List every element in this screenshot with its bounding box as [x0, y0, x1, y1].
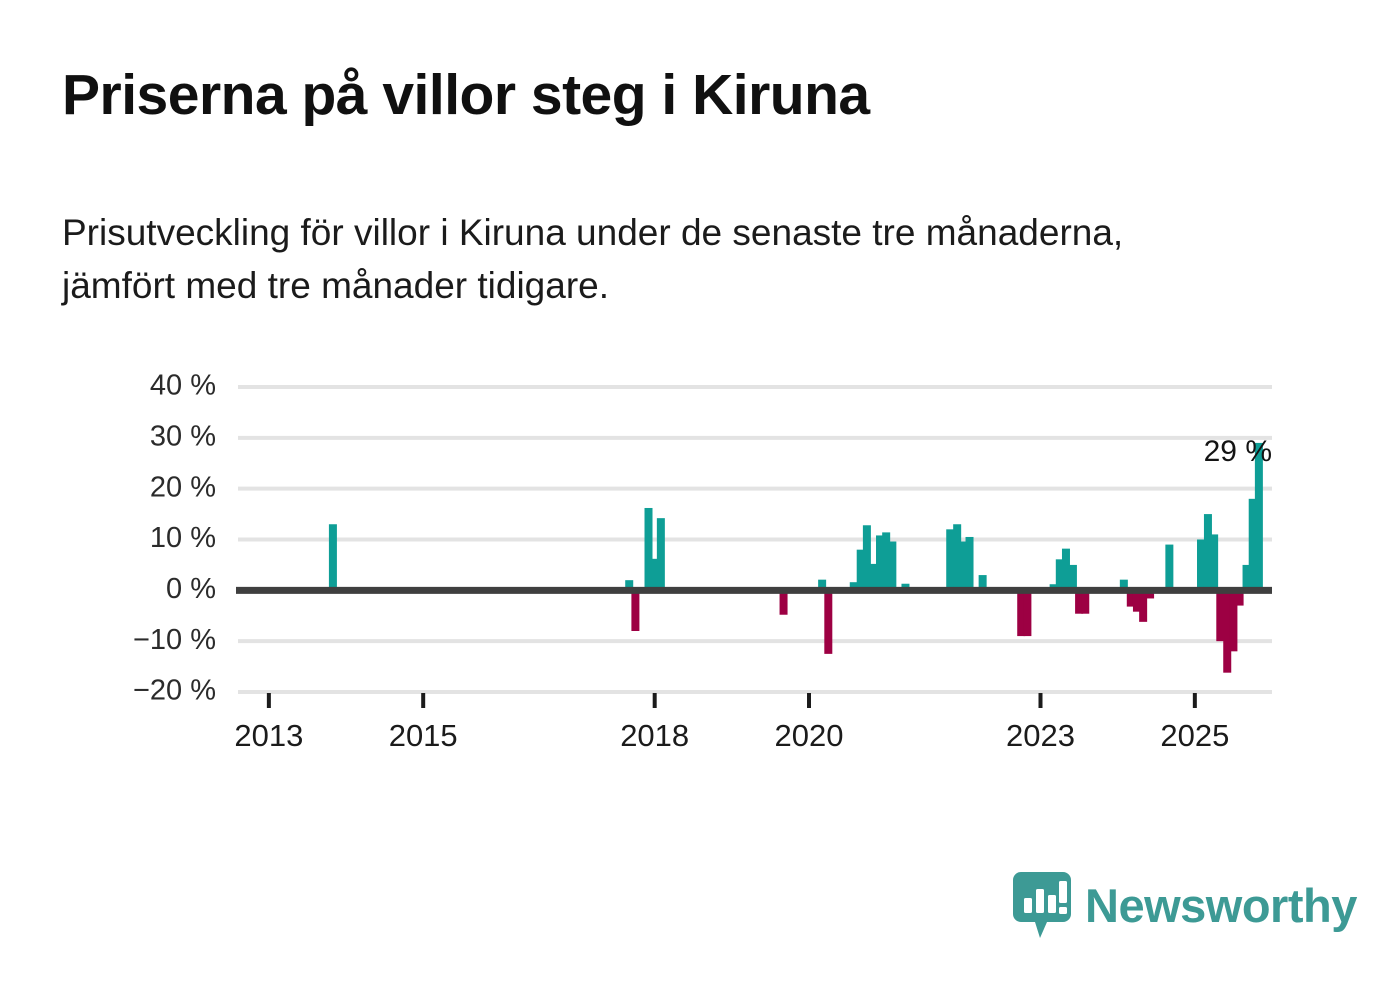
bars-group [329, 443, 1263, 673]
x-axis-ticks: 201320152018202020232025 [234, 693, 1229, 753]
chart-page: Priserna på villor steg i Kiruna Prisutv… [0, 0, 1382, 999]
page-subtitle: Prisutveckling för villor i Kiruna under… [62, 206, 1242, 312]
chart-bar [1133, 590, 1141, 611]
chart-bar [1146, 590, 1154, 598]
y-axis-ticks: 40 %30 %20 %10 %0 %−10 %−20 % [133, 370, 216, 707]
y-axis-label: 30 % [150, 420, 216, 452]
chart-bar [1165, 545, 1173, 591]
chart-bar [1139, 590, 1147, 622]
x-axis-label: 2018 [620, 718, 689, 753]
y-axis-label: 40 % [150, 370, 216, 402]
y-axis-label: 0 % [166, 573, 216, 605]
chart-bar [818, 580, 826, 591]
chart-bar [901, 584, 909, 591]
chart-bar [1223, 590, 1231, 672]
chart-bar [651, 559, 659, 591]
y-axis-label: −20 % [133, 675, 216, 707]
chart-bar [631, 590, 639, 631]
bar-chart-speech-bubble-icon [1013, 872, 1071, 938]
y-axis-label: −10 % [133, 624, 216, 656]
chart-bar [1050, 584, 1058, 590]
y-axis-label: 10 % [150, 522, 216, 554]
newsworthy-logo: Newsworthy [1013, 872, 1357, 938]
chart-bar [1069, 565, 1077, 590]
chart-bar [657, 518, 665, 590]
newsworthy-wordmark: Newsworthy [1085, 882, 1357, 929]
x-axis-label: 2020 [775, 718, 844, 753]
chart-bar [1255, 443, 1263, 590]
chart-annotations: 29 % [1204, 435, 1272, 468]
chart-bar [1120, 580, 1128, 591]
chart-bar [876, 535, 884, 590]
x-axis-label: 2015 [389, 718, 458, 753]
x-axis-label: 2023 [1006, 718, 1075, 753]
chart-bar [882, 532, 890, 590]
x-axis-label: 2025 [1160, 718, 1229, 753]
chart-bar [1204, 514, 1212, 590]
chart-bar [953, 524, 961, 590]
chart-bar [857, 550, 865, 591]
chart-bar [1017, 590, 1025, 636]
chart-bar [863, 525, 871, 590]
chart-bar [329, 524, 337, 590]
chart-bar [1023, 590, 1031, 636]
x-axis-label: 2013 [234, 718, 303, 753]
chart-bar [1236, 590, 1244, 605]
chart-bar [1081, 590, 1089, 613]
page-title: Priserna på villor steg i Kiruna [62, 62, 1322, 128]
chart-bar [1229, 590, 1237, 651]
chart-svg: 40 %30 %20 %10 %0 %−10 %−20 % 2013201520… [0, 0, 1382, 999]
chart-bar [780, 590, 788, 614]
chart-bar [1249, 499, 1257, 590]
chart-bar [1210, 534, 1218, 590]
chart-bar [946, 529, 954, 590]
chart-bar [645, 508, 653, 590]
chart-bar [869, 564, 877, 590]
chart-bar [1243, 565, 1251, 590]
gridlines [238, 387, 1272, 692]
chart-bar [1056, 559, 1064, 590]
value-annotation: 29 % [1204, 435, 1272, 468]
chart-bar [888, 542, 896, 591]
chart-bar [850, 582, 858, 590]
chart-bar [824, 590, 832, 654]
chart-bar [625, 580, 633, 590]
y-axis-label: 20 % [150, 471, 216, 503]
chart-bar [1216, 590, 1224, 641]
chart-bar [966, 537, 974, 590]
chart-bar [1075, 590, 1083, 613]
chart-bar [1127, 590, 1135, 606]
chart-bar [959, 542, 967, 591]
bar-chart: 40 %30 %20 %10 %0 %−10 %−20 % 2013201520… [0, 0, 1382, 999]
chart-bar [1197, 540, 1205, 591]
chart-bar [1062, 549, 1070, 591]
chart-bar [979, 575, 987, 590]
